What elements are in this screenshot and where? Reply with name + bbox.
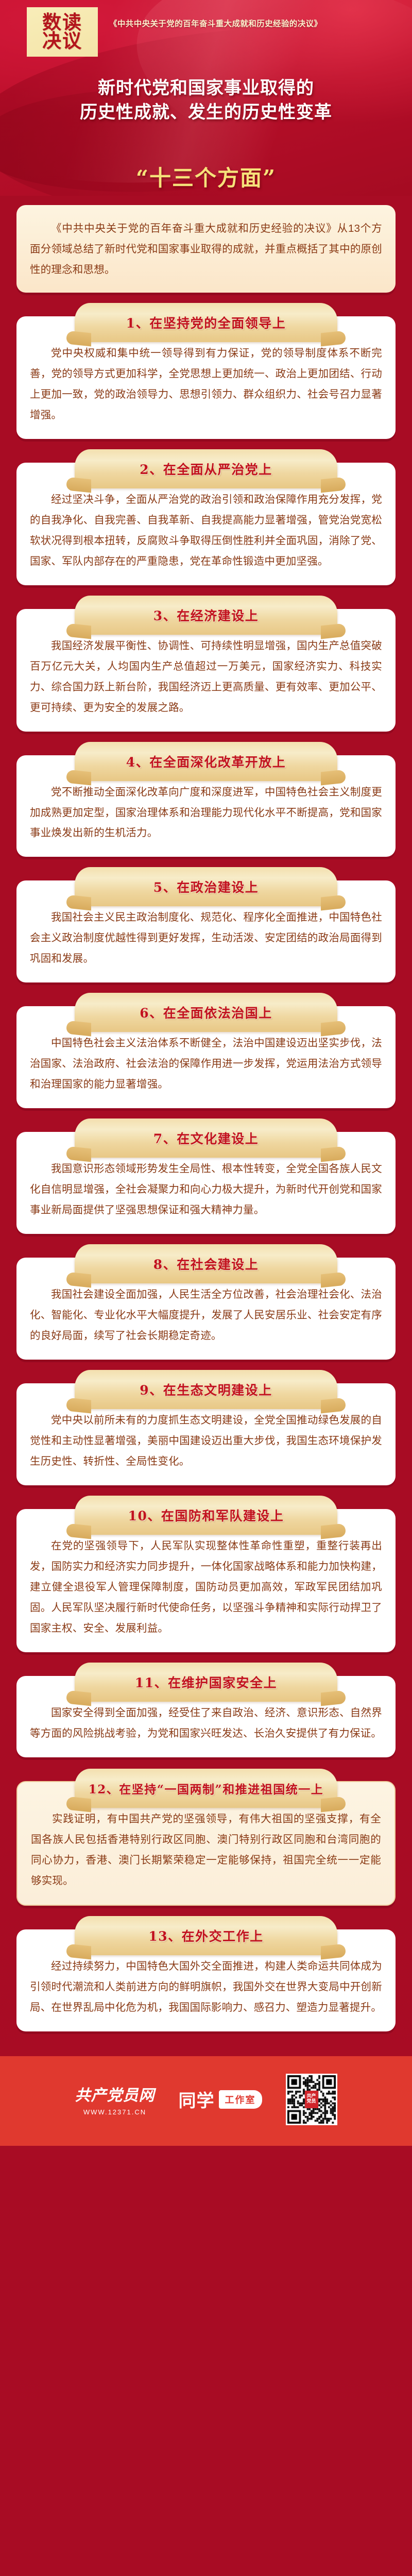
section-ribbon: 5、在政治建设上: [75, 867, 337, 906]
poster-body: 《中共中央关于党的百年奋斗重大成就和历史经验的决议》从13个方面分领域总结了新时…: [0, 205, 412, 2031]
section-card: 11、在维护国家安全上国家安全得到全面加强，经受住了来自政治、经济、意识形态、自…: [16, 1676, 396, 1757]
studio-pill-label: 工作室: [219, 2090, 262, 2109]
section-ribbon: 7、在文化建设上: [75, 1118, 337, 1158]
section-body: 党中央权威和集中统一领导得到有力保证，党的领导制度体系不断完善，党的领导方式更加…: [30, 343, 382, 426]
section-title: 4、在全面深化改革开放上: [126, 752, 286, 771]
section-card: 2、在全面从严治党上经过坚决斗争，全面从严治党的政治引领和政治保障作用充分发挥，…: [16, 463, 396, 585]
sections-container: 1、在坚持党的全面领导上党中央权威和集中统一领导得到有力保证，党的领导制度体系不…: [16, 316, 396, 2031]
section-title: 7、在文化建设上: [153, 1129, 259, 1147]
section-ribbon: 1、在坚持党的全面领导上: [75, 303, 337, 342]
section-body: 国家安全得到全面加强，经受住了来自政治、经济、意识形态、自然界等方面的风险挑战考…: [30, 1703, 382, 1744]
page-title-line-1: 新时代党和国家事业取得的: [98, 78, 314, 98]
section-body: 中国特色社会主义法治体系不断健全，法治中国建设迈出坚实步伐，法治国家、法治政府、…: [30, 1033, 382, 1095]
section-body: 我国意识形态领域形势发生全局性、根本性转变，全党全国各族人民文化自信明显增强，全…: [30, 1159, 382, 1221]
section-card: 7、在文化建设上我国意识形态领域形势发生全局性、根本性转变，全党全国各族人民文化…: [16, 1132, 396, 1234]
qr-code[interactable]: 共产党员: [286, 2074, 337, 2125]
gold-highlight-phrase: “十三个方面”: [0, 161, 412, 192]
section-card: 6、在全面依法治国上中国特色社会主义法治体系不断健全，法治中国建设迈出坚实步伐，…: [16, 1006, 396, 1108]
section-body: 我国社会主义民主政治制度化、规范化、程序化全面推进，中国特色社会主义政治制度优越…: [30, 907, 382, 969]
section-body: 实践证明，有中国共产党的坚强领导，有伟大祖国的坚强支撑，有全国各族人民包括香港特…: [31, 1809, 381, 1891]
section-ribbon: 6、在全面依法治国上: [75, 993, 337, 1032]
section-ribbon: 4、在全面深化改革开放上: [75, 742, 337, 781]
qr-seal: 共产党员: [305, 2091, 318, 2108]
section-title: 5、在政治建设上: [153, 877, 259, 896]
section-card: 10、在国防和军队建设上在党的坚强领导下，人民军队实现整体性革命性重塑，重整行装…: [16, 1509, 396, 1652]
section-5: 5、在政治建设上我国社会主义民主政治制度化、规范化、程序化全面推进，中国特色社会…: [16, 880, 396, 982]
section-title: 13、在外交工作上: [148, 1926, 263, 1945]
section-card: 13、在外交工作上经过持续努力，中国特色大国外交全面推进，构建人类命运共同体成为…: [16, 1929, 396, 2031]
section-2: 2、在全面从严治党上经过坚决斗争，全面从严治党的政治引领和政治保障作用充分发挥，…: [16, 463, 396, 585]
document-name: 《中共中央关于党的百年奋斗重大成就和历史经验的决议》: [109, 18, 322, 29]
section-7: 7、在文化建设上我国意识形态领域形势发生全局性、根本性转变，全党全国各族人民文化…: [16, 1132, 396, 1234]
section-card: 5、在政治建设上我国社会主义民主政治制度化、规范化、程序化全面推进，中国特色社会…: [16, 880, 396, 982]
section-1: 1、在坚持党的全面领导上党中央权威和集中统一领导得到有力保证，党的领导制度体系不…: [16, 316, 396, 439]
section-body: 经过持续努力，中国特色大国外交全面推进，构建人类命运共同体成为引领时代潮流和人类…: [30, 1956, 382, 2018]
section-card: 1、在坚持党的全面领导上党中央权威和集中统一领导得到有力保证，党的领导制度体系不…: [16, 316, 396, 439]
poster-header: 数读 决议 《中共中央关于党的百年奋斗重大成就和历史经验的决议》 新时代党和国家…: [0, 0, 412, 196]
brand-logo[interactable]: 共产党员网 WWW.12371.CN: [75, 2082, 155, 2116]
section-ribbon: 11、在维护国家安全上: [75, 1663, 337, 1702]
section-ribbon: 2、在全面从严治党上: [75, 449, 337, 488]
section-body: 党中央以前所未有的力度抓生态文明建设，全党全国推动绿色发展的自觉性和主动性显著增…: [30, 1410, 382, 1472]
section-card: 8、在社会建设上我国社会建设全面加强，人民生活全方位改善，社会治理社会化、法治化…: [16, 1258, 396, 1360]
studio-logo[interactable]: 同学 工作室: [179, 2087, 262, 2112]
section-8: 8、在社会建设上我国社会建设全面加强，人民生活全方位改善，社会治理社会化、法治化…: [16, 1258, 396, 1360]
section-4: 4、在全面深化改革开放上党不断推动全面深化改革向广度和深度进军，中国特色社会主义…: [16, 755, 396, 857]
section-title: 11、在维护国家安全上: [135, 1673, 277, 1691]
section-title: 2、在全面从严治党上: [140, 460, 272, 478]
section-ribbon: 3、在经济建设上: [75, 596, 337, 635]
section-title: 1、在坚持党的全面领导上: [126, 313, 286, 332]
series-stamp: 数读 决议: [27, 7, 98, 57]
brand-url: WWW.12371.CN: [83, 2108, 146, 2116]
section-title: 9、在生态文明建设上: [140, 1380, 272, 1399]
section-title: 3、在经济建设上: [153, 606, 259, 624]
studio-name: 同学: [179, 2087, 215, 2112]
section-3: 3、在经济建设上我国经济发展平衡性、协调性、可持续性明显增强，国内生产总值突破百…: [16, 609, 396, 732]
intro-text: 《中共中央关于党的百年奋斗重大成就和历史经验的决议》从13个方面分领域总结了新时…: [30, 218, 382, 280]
section-ribbon: 8、在社会建设上: [75, 1244, 337, 1283]
section-13: 13、在外交工作上经过持续努力，中国特色大国外交全面推进，构建人类命运共同体成为…: [16, 1929, 396, 2031]
section-10: 10、在国防和军队建设上在党的坚强领导下，人民军队实现整体性革命性重塑，重整行装…: [16, 1509, 396, 1652]
section-12: 12、在坚持“一国两制”和推进祖国统一上实践证明，有中国共产党的坚强领导，有伟大…: [16, 1781, 396, 1906]
section-card: 4、在全面深化改革开放上党不断推动全面深化改革向广度和深度进军，中国特色社会主义…: [16, 755, 396, 857]
brand-name: 共产党员网: [75, 2082, 155, 2105]
stamp-line-2: 决议: [42, 32, 82, 50]
section-body: 经过坚决斗争，全面从严治党的政治引领和政治保障作用充分发挥，党的自我净化、自我完…: [30, 489, 382, 572]
page-title-line-2: 历史性成就、发生的历史性变革: [0, 100, 412, 125]
section-card: 12、在坚持“一国两制”和推进祖国统一上实践证明，有中国共产党的坚强领导，有伟大…: [16, 1781, 396, 1906]
section-ribbon: 13、在外交工作上: [75, 1916, 337, 1955]
section-card: 9、在生态文明建设上党中央以前所未有的力度抓生态文明建设，全党全国推动绿色发展的…: [16, 1383, 396, 1485]
section-ribbon: 9、在生态文明建设上: [75, 1370, 337, 1409]
section-body: 我国社会建设全面加强，人民生活全方位改善，社会治理社会化、法治化、智能化、专业化…: [30, 1284, 382, 1346]
page-title: 新时代党和国家事业取得的 历史性成就、发生的历史性变革: [0, 76, 412, 125]
section-9: 9、在生态文明建设上党中央以前所未有的力度抓生态文明建设，全党全国推动绿色发展的…: [16, 1383, 396, 1485]
section-title: 6、在全面依法治国上: [140, 1003, 272, 1022]
section-ribbon: 12、在坚持“一国两制”和推进祖国统一上: [75, 1769, 337, 1808]
section-title: 8、在社会建设上: [153, 1255, 259, 1273]
section-6: 6、在全面依法治国上中国特色社会主义法治体系不断健全，法治中国建设迈出坚实步伐，…: [16, 1006, 396, 1108]
poster-footer: 共产党员网 WWW.12371.CN 同学 工作室 共产党员: [0, 2056, 412, 2146]
section-card: 3、在经济建设上我国经济发展平衡性、协调性、可持续性明显增强，国内生产总值突破百…: [16, 609, 396, 732]
section-body: 在党的坚强领导下，人民军队实现整体性革命性重塑，重整行装再出发，国防实力和经济实…: [30, 1536, 382, 1639]
section-11: 11、在维护国家安全上国家安全得到全面加强，经受住了来自政治、经济、意识形态、自…: [16, 1676, 396, 1757]
poster-root: 数读 决议 《中共中央关于党的百年奋斗重大成就和历史经验的决议》 新时代党和国家…: [0, 0, 412, 2576]
section-ribbon: 10、在国防和军队建设上: [75, 1496, 337, 1535]
section-body: 我国经济发展平衡性、协调性、可持续性明显增强，国内生产总值突破百万亿元大关，人均…: [30, 636, 382, 718]
section-title: 10、在国防和军队建设上: [128, 1506, 284, 1524]
section-title: 12、在坚持“一国两制”和推进祖国统一上: [89, 1780, 323, 1797]
section-body: 党不断推动全面深化改革向广度和深度进军，中国特色社会主义制度更加成熟更加定型，国…: [30, 782, 382, 844]
intro-card: 《中共中央关于党的百年奋斗重大成就和历史经验的决议》从13个方面分领域总结了新时…: [16, 205, 396, 293]
